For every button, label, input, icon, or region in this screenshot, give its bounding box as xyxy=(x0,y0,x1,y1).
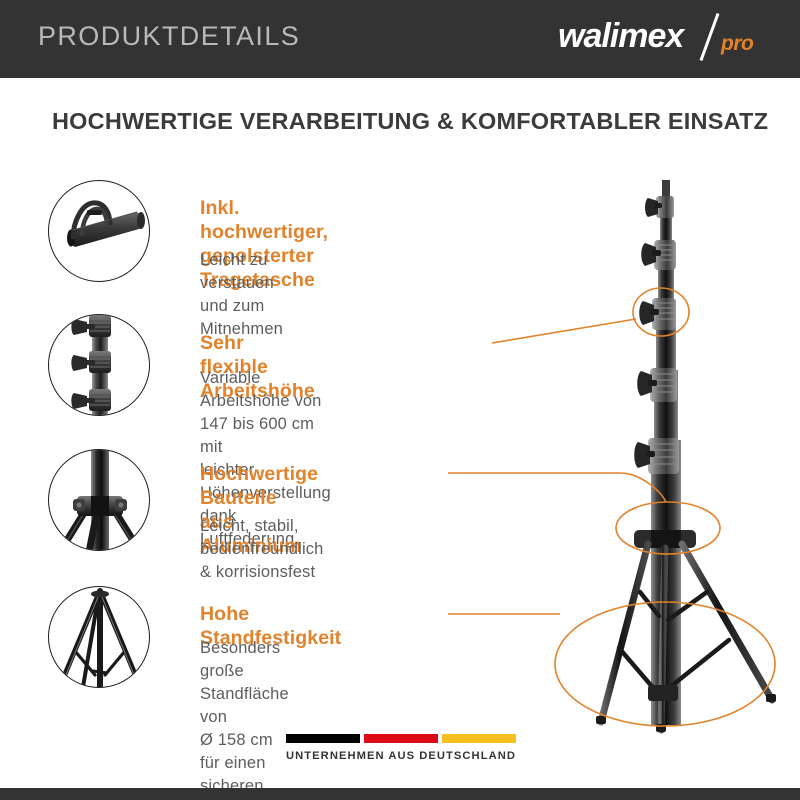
flag-bar-red xyxy=(364,734,438,743)
feature-body: Leicht zu verstauen und zum Mitnehmen xyxy=(200,249,283,341)
flag-bar-gold xyxy=(442,734,516,743)
feature-body: Besonders große Standfläche von Ø 158 cm… xyxy=(200,637,289,800)
feature-body-line1: Leicht, stabil, bedienfreundlich xyxy=(200,515,323,561)
callout-aluminium xyxy=(448,473,720,554)
aluminium-leg-hub-icon xyxy=(48,449,150,551)
product-details-page: PRODUKTDETAILS walimex pro HOCHWERTIGE V… xyxy=(0,0,800,800)
logo-pro-text: pro xyxy=(721,32,753,56)
walimex-pro-logo: walimex pro xyxy=(558,13,778,65)
page-title: PRODUKTDETAILS xyxy=(38,21,300,52)
feature-body: Leicht, stabil, bedienfreundlich & korri… xyxy=(200,515,323,584)
feature-body-line1: Leicht zu verstauen und zum Mitnehmen xyxy=(200,249,283,341)
logo-slash-decoration xyxy=(700,13,720,61)
footer-bar xyxy=(0,788,800,800)
feature-title-line1: Hochwertige Bauteile xyxy=(200,462,318,510)
feature-body-line2: & korrisionsfest xyxy=(200,561,323,584)
locking-knobs xyxy=(634,196,679,474)
logo-brand-text: walimex xyxy=(558,17,683,56)
carrying-bag-icon xyxy=(48,180,150,282)
callout-working-height xyxy=(492,288,689,343)
tripod-base-icon xyxy=(48,586,150,688)
made-in-germany-badge: UNTERNEHMEN AUS DEUTSCHLAND xyxy=(286,734,516,762)
telescoping-column-icon xyxy=(48,314,150,416)
callout-base-footprint xyxy=(448,602,775,726)
feature-body-line1: Besonders große Standfläche von xyxy=(200,637,289,729)
flag-bar-black xyxy=(286,734,360,743)
footer-caption: UNTERNEHMEN AUS DEUTSCHLAND xyxy=(286,750,516,762)
german-flag-bars xyxy=(286,734,516,743)
page-header: PRODUKTDETAILS walimex pro xyxy=(0,0,800,78)
light-stand-illustration xyxy=(596,180,776,732)
section-heading: HOCHWERTIGE VERARBEITUNG & KOMFORTABLER … xyxy=(52,108,768,135)
tripod-legs xyxy=(601,544,772,730)
feature-body-line1: Variable Arbeitshöhe von 147 bis 600 cm … xyxy=(200,367,331,459)
